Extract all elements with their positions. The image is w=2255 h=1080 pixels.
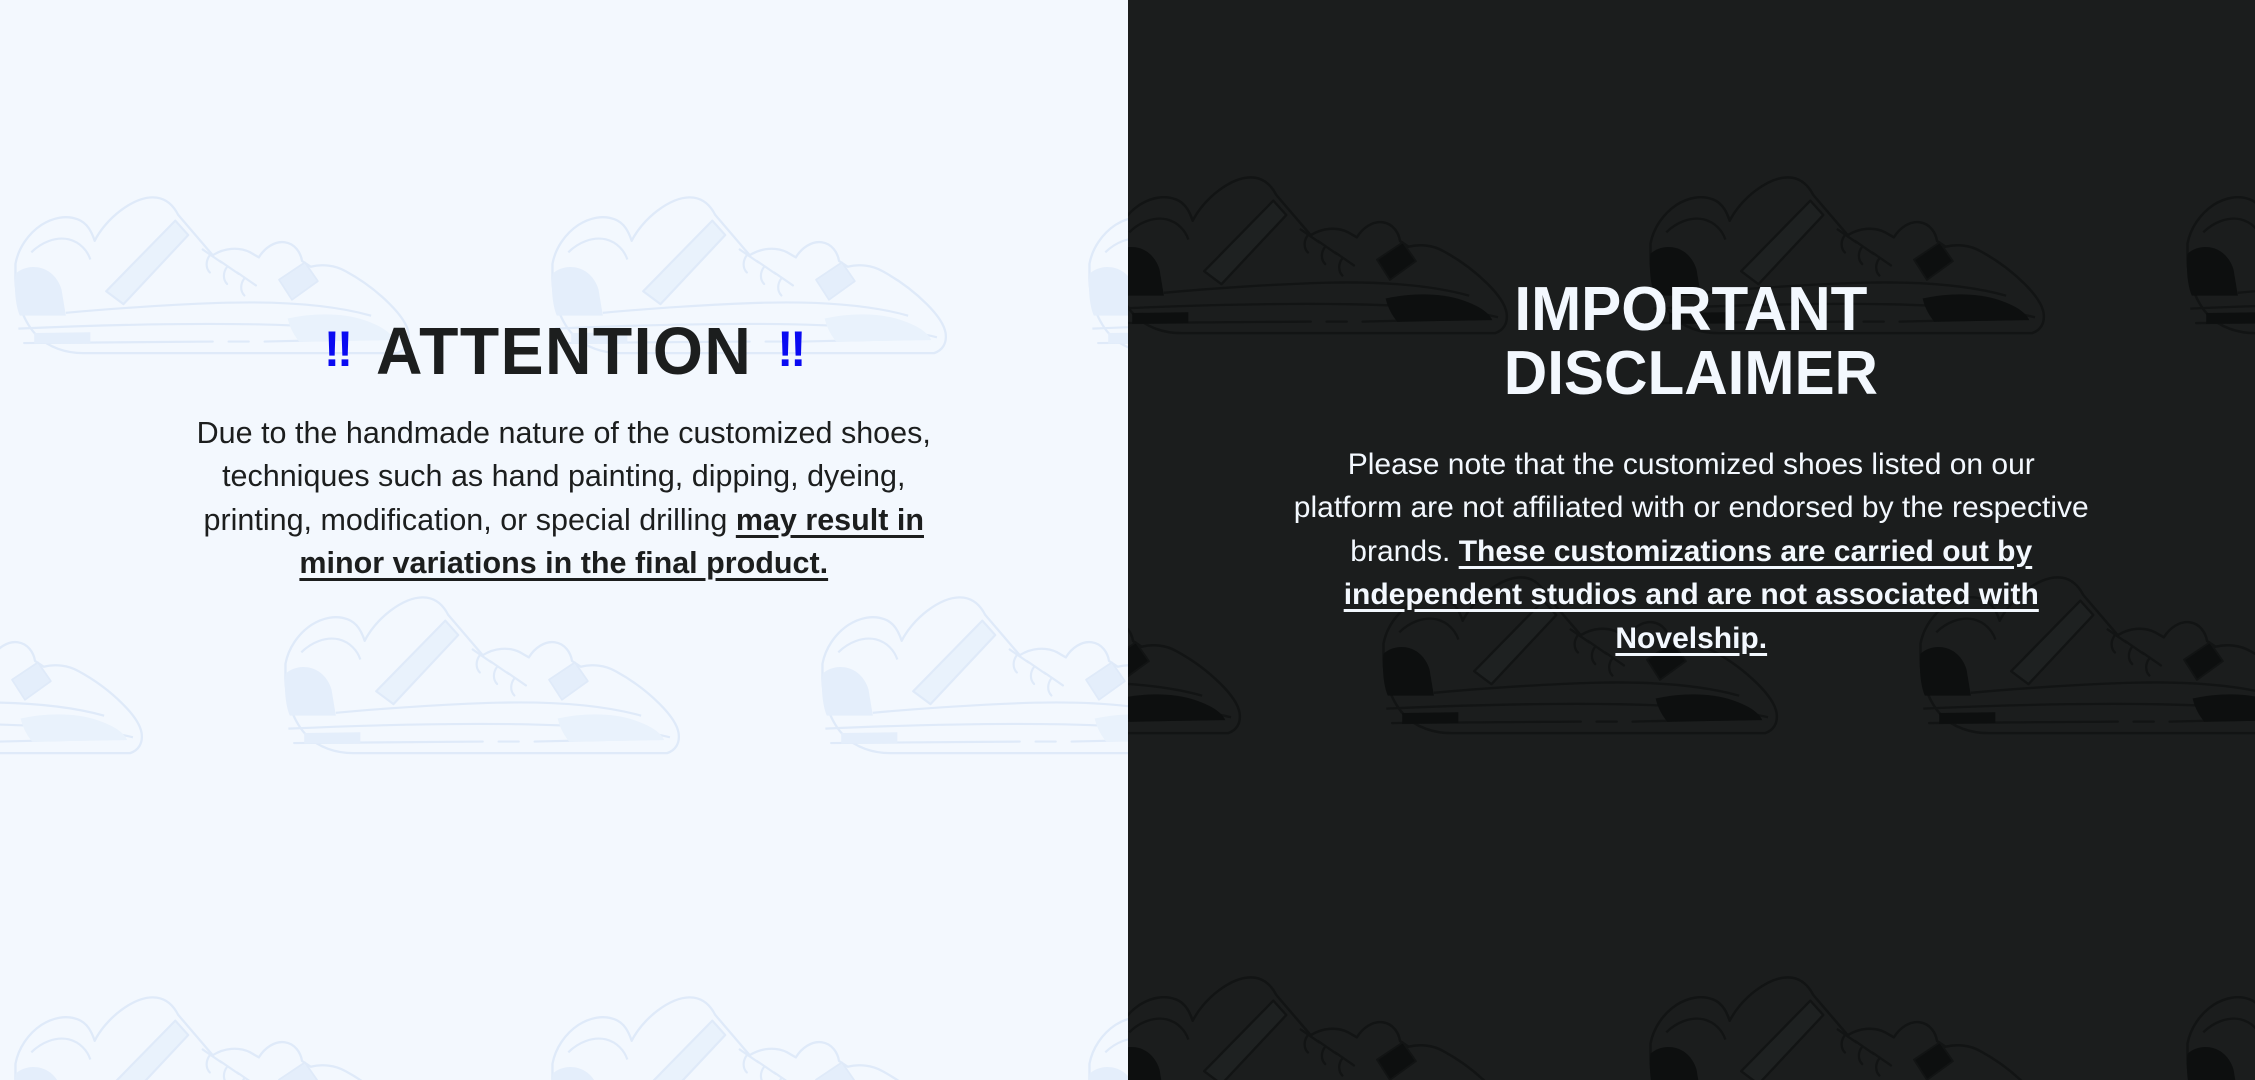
disclaimer-panel: IMPORTANT DISCLAIMER Please note that th…: [1128, 0, 2255, 1080]
attention-heading-word: ATTENTION: [376, 318, 752, 385]
double-exclamation-icon-right: ‼: [777, 324, 804, 374]
attention-content: ‼ ATTENTION ‼ Due to the handmade nature…: [0, 0, 1128, 585]
disclaimer-content: IMPORTANT DISCLAIMER Please note that th…: [1128, 0, 2255, 660]
disclaimer-banner: ‼ ATTENTION ‼ Due to the handmade nature…: [0, 0, 2255, 1080]
disclaimer-body: Please note that the customized shoes li…: [1291, 443, 2091, 661]
attention-panel: ‼ ATTENTION ‼ Due to the handmade nature…: [0, 0, 1128, 1080]
double-exclamation-icon-left: ‼: [324, 324, 351, 374]
disclaimer-heading: IMPORTANT DISCLAIMER: [1504, 278, 1878, 407]
attention-heading: ‼ ATTENTION ‼: [324, 318, 804, 385]
attention-body: Due to the handmade nature of the custom…: [164, 412, 964, 585]
disclaimer-heading-line2: DISCLAIMER: [1504, 342, 1878, 406]
disclaimer-heading-line1: IMPORTANT: [1504, 278, 1878, 342]
